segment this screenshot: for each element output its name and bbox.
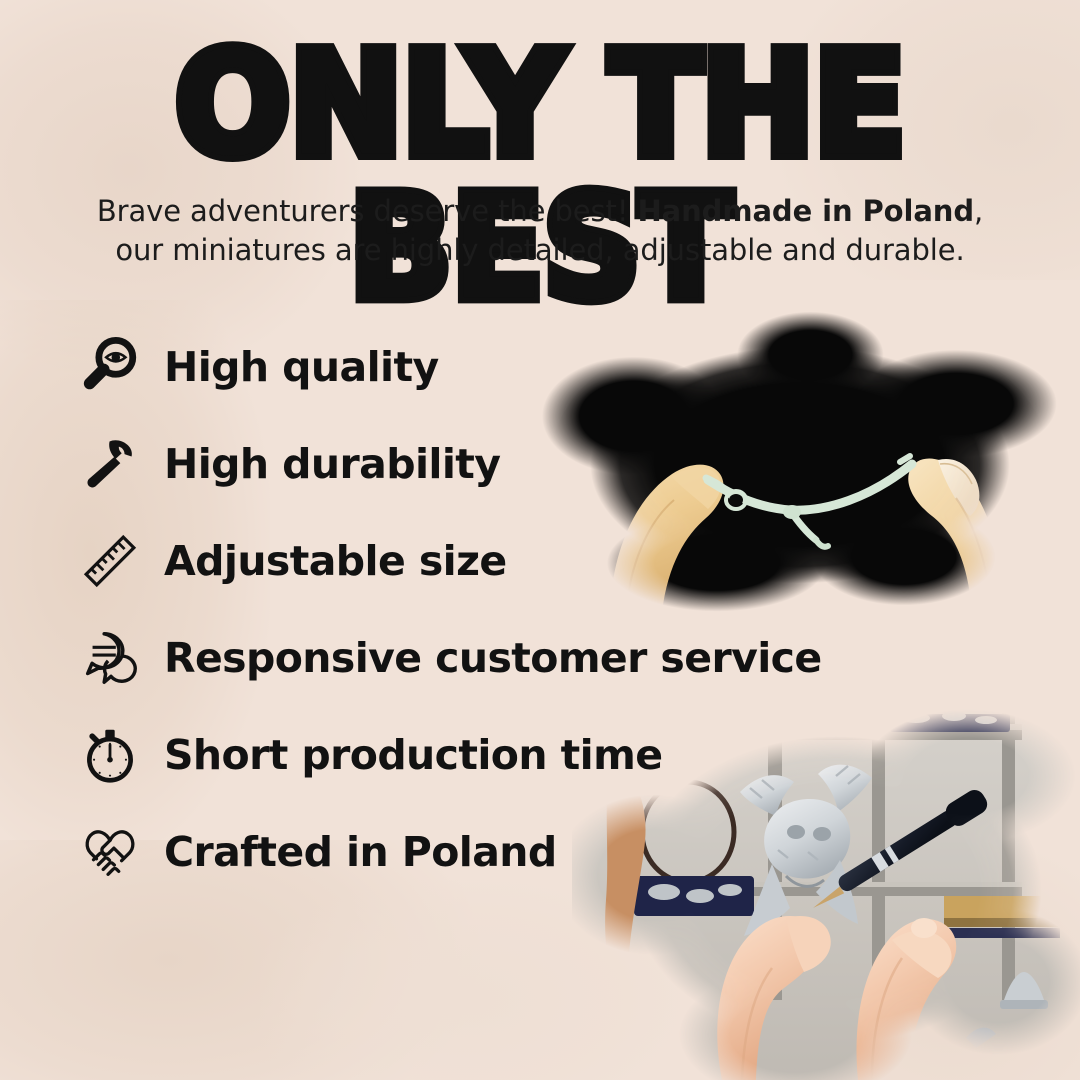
subtitle: Brave adventurers deserve the best! Hand… <box>0 192 1080 269</box>
headline-text: ONLY THE BEST <box>0 34 1080 321</box>
subtitle-highlight: Handmade in Poland <box>637 194 974 228</box>
magnifier-eye-icon <box>62 323 158 411</box>
stopwatch-icon <box>62 711 158 799</box>
hammer-icon <box>62 420 158 508</box>
photo-flexible-miniature <box>540 312 1060 618</box>
feature-label: Responsive customer service <box>164 634 822 682</box>
infographic-page: ONLY THE BEST Brave adventurers deserve … <box>0 0 1080 1080</box>
feature-label: High quality <box>164 343 439 391</box>
subtitle-prefix: Brave adventurers deserve the best! <box>97 194 638 228</box>
speech-bubbles-icon <box>62 614 158 702</box>
subtitle-suffix: , <box>974 194 983 228</box>
photo-workshop-painting <box>572 700 1080 1080</box>
ruler-icon <box>62 517 158 605</box>
feature-label: High durability <box>164 440 500 488</box>
heart-handshake-icon <box>62 808 158 896</box>
subtitle-line-1: Brave adventurers deserve the best! Hand… <box>0 192 1080 231</box>
feature-label: Crafted in Poland <box>164 828 557 876</box>
feature-label: Adjustable size <box>164 537 507 585</box>
feature-row-customer-service: Responsive customer service <box>62 609 822 706</box>
subtitle-line-2: our miniatures are highly detailed, adju… <box>0 231 1080 270</box>
